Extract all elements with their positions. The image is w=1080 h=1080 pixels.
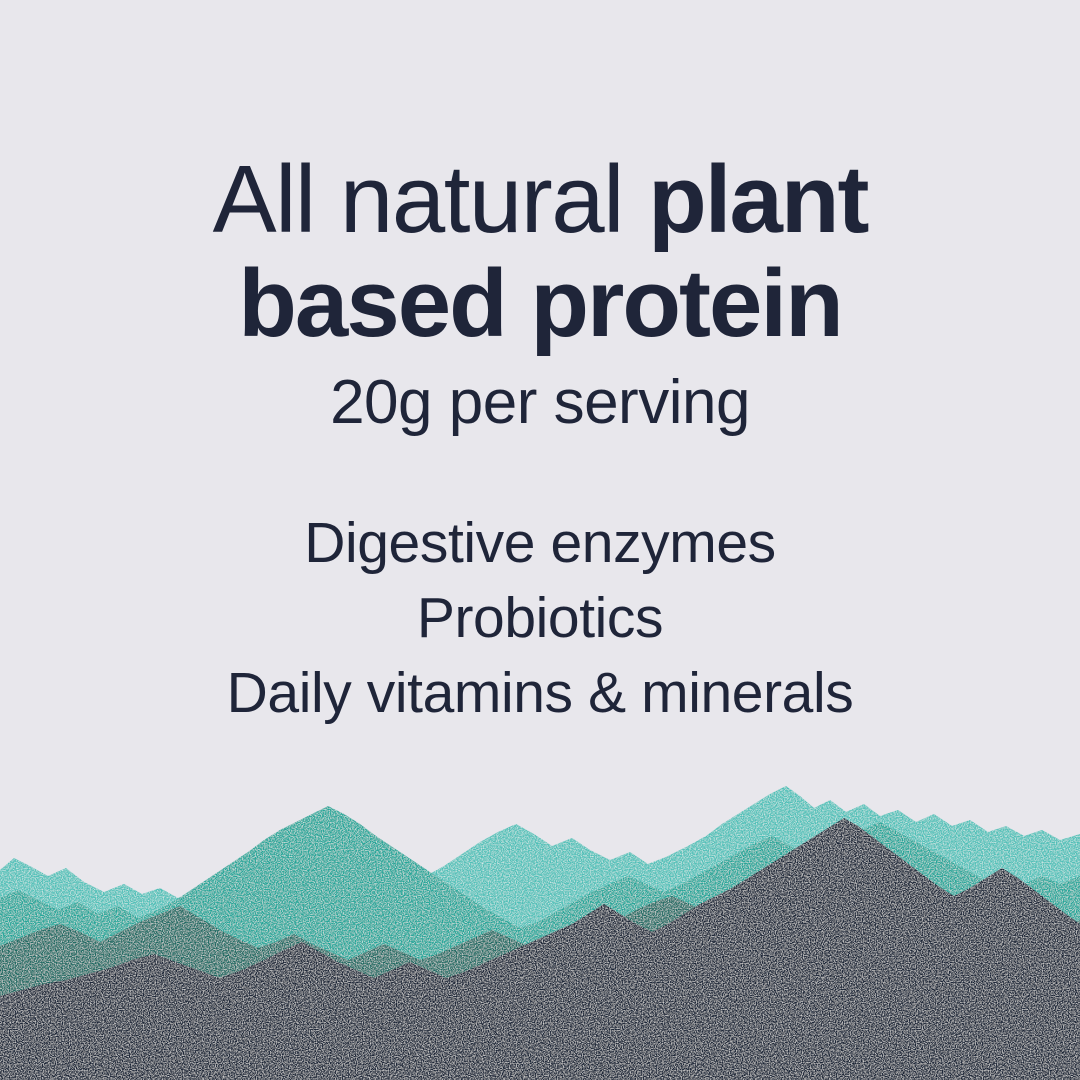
protein-amount-subhead: 20g per serving <box>0 355 1080 437</box>
list-item: Daily vitamins & minerals <box>0 656 1080 731</box>
headline-bold-word: plant <box>648 146 867 253</box>
headline-regular-text: All natural <box>213 146 649 253</box>
list-item: Probiotics <box>0 581 1080 656</box>
headline-line-1: All natural plant <box>0 0 1080 252</box>
benefits-list: Digestive enzymes Probiotics Daily vitam… <box>0 438 1080 732</box>
page-title: All natural plant based protein <box>0 0 1080 355</box>
marketing-copy-block: All natural plant based protein 20g per … <box>0 0 1080 731</box>
promo-graphic: All natural plant based protein 20g per … <box>0 0 1080 1080</box>
headline-line-2: based protein <box>0 252 1080 356</box>
mountain-range-illustration <box>0 780 1080 1080</box>
list-item: Digestive enzymes <box>0 506 1080 581</box>
